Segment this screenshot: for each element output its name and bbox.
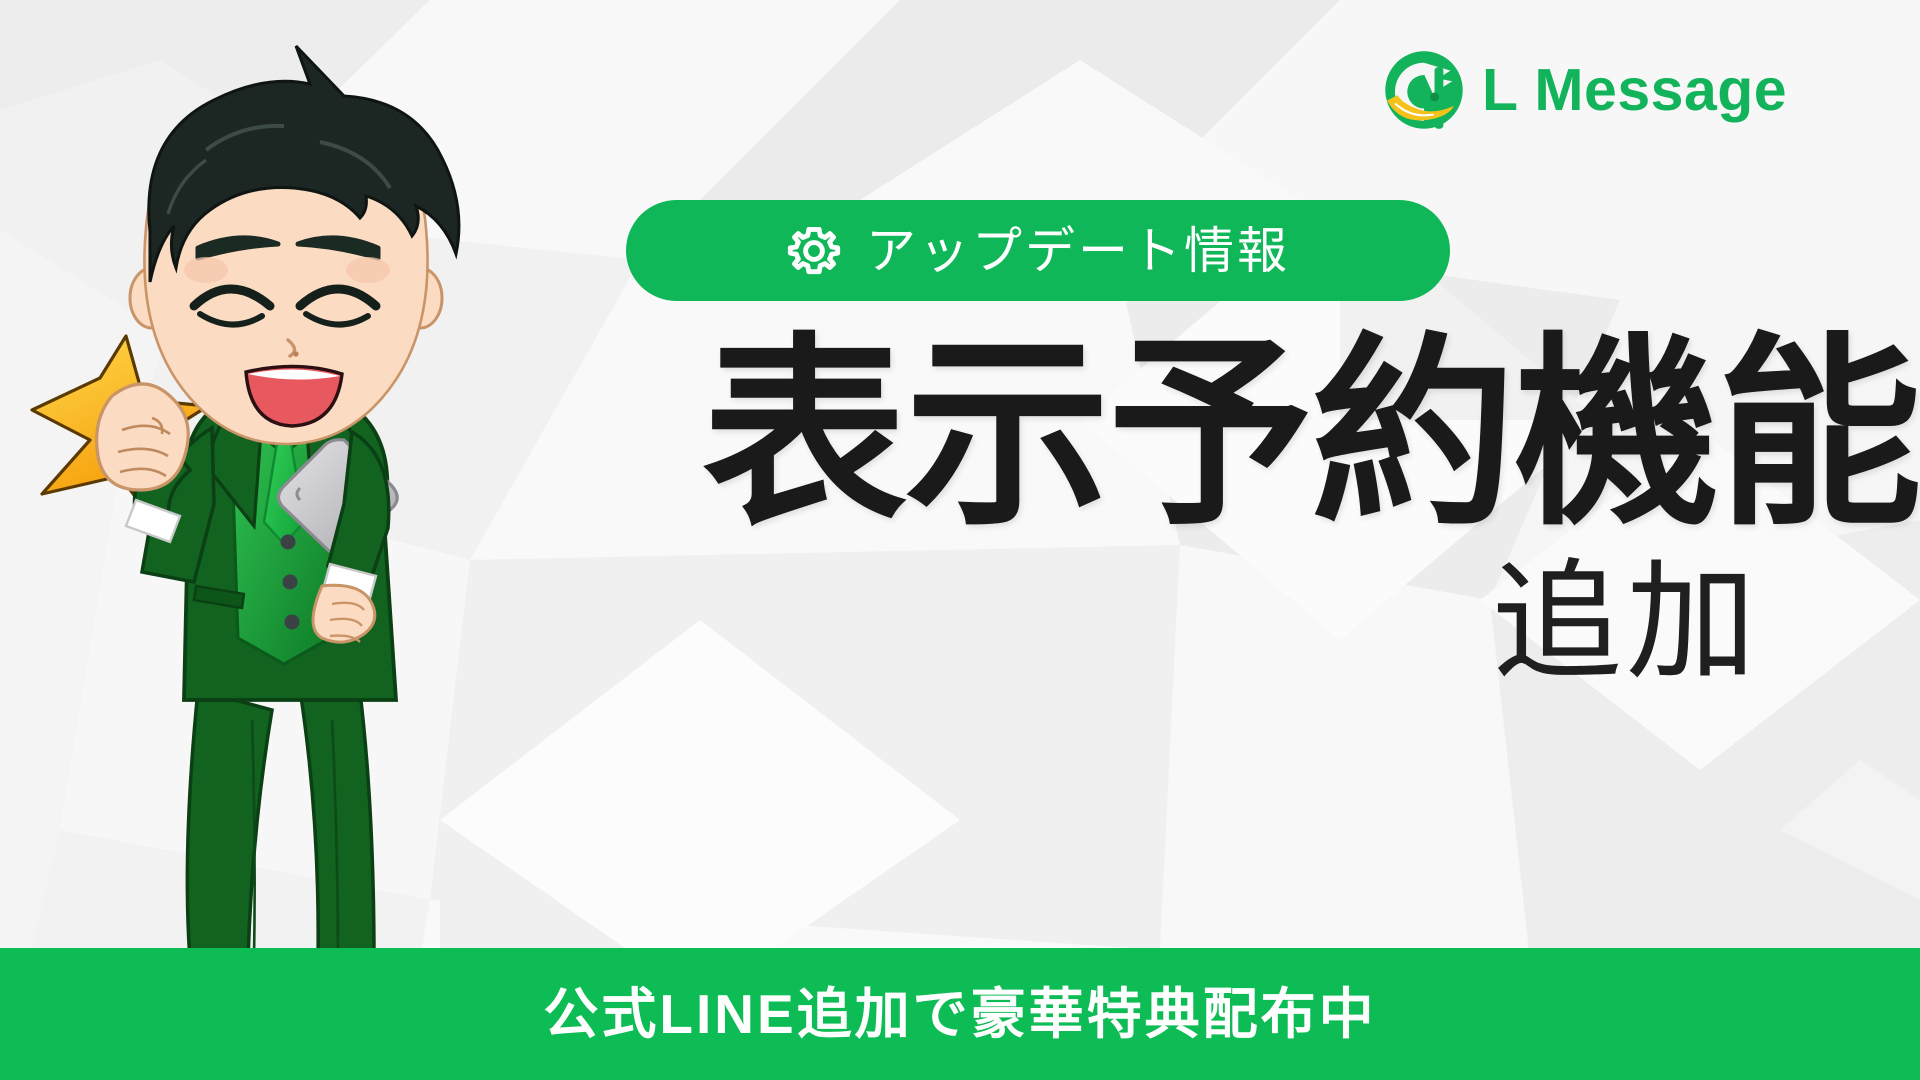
- update-badge-label: アップデート情報: [866, 226, 1290, 276]
- bird-leaf-logo-icon: [1380, 46, 1468, 134]
- bottom-cta-label: 公式LINE追加で豪華特典配布中: [543, 987, 1376, 1042]
- gear-icon: [786, 223, 842, 279]
- headline-sub-text: 追加: [500, 557, 1760, 687]
- brand-logo-lockup[interactable]: L Message: [1380, 46, 1787, 134]
- brand-wordmark: L Message: [1482, 61, 1787, 120]
- headline-block: 表示予約機能 追加: [500, 330, 1920, 687]
- bottom-cta-bar[interactable]: 公式LINE追加で豪華特典配布中: [0, 948, 1920, 1080]
- headline-main-text: 表示予約機能: [500, 330, 1920, 539]
- update-info-badge[interactable]: アップデート情報: [626, 200, 1450, 301]
- promo-banner: L Message アップデート情報 表示予約機能 追加: [0, 0, 1920, 1080]
